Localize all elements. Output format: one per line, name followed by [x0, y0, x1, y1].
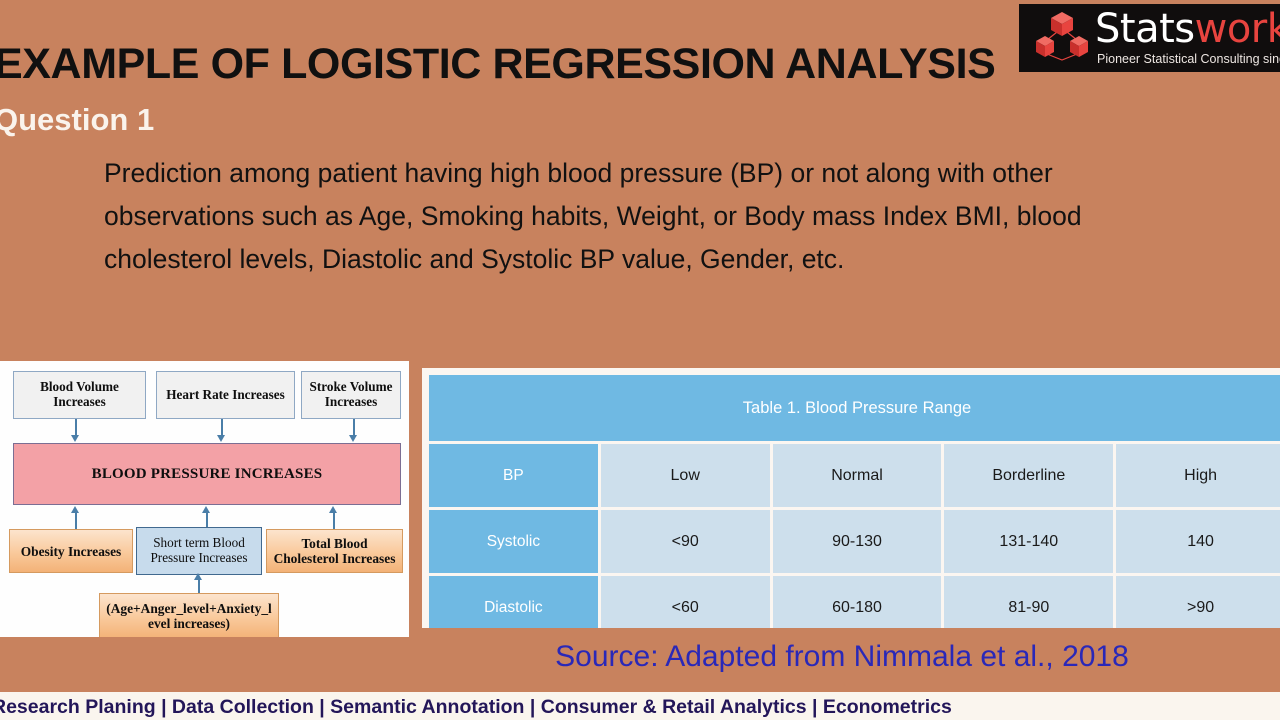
table-cell-systolic-low: <90	[601, 510, 770, 573]
table-cell-diastolic-borderline: 81-90	[944, 576, 1113, 628]
footer-bar: Research Planing | Data Collection | Sem…	[0, 692, 1280, 720]
table-row-label-systolic: Systolic	[429, 510, 598, 573]
diagram-box-total-cholesterol: Total Blood Cholesterol Increases	[266, 529, 403, 573]
table-cell-diastolic-low: <60	[601, 576, 770, 628]
table-col-header-bp: BP	[429, 444, 598, 507]
diagram-box-blood-volume: Blood Volume Increases	[13, 371, 146, 419]
table-col-header-low: Low	[601, 444, 770, 507]
arrow-head-up-2	[202, 506, 210, 513]
diagram-box-blood-pressure-increases: BLOOD PRESSURE INCREASES	[13, 443, 401, 505]
table-header-row: BP Low Normal Borderline High	[429, 444, 1280, 507]
blood-pressure-flow-diagram: Blood Volume Increases Heart Rate Increa…	[0, 358, 412, 640]
logo-word-work: work	[1195, 6, 1280, 52]
table: Table 1. Blood Pressure Range BP Low Nor…	[426, 372, 1280, 628]
footer-services-text: Research Planing | Data Collection | Sem…	[0, 696, 952, 719]
source-caption: Source: Adapted from Nimmala et al., 201…	[422, 640, 1262, 674]
logo-wordmark: Statswork	[1095, 6, 1280, 52]
page-title: EXAMPLE OF LOGISTIC REGRESSION ANALYSIS	[0, 40, 1054, 89]
arrow-head-up-4	[194, 573, 202, 580]
diagram-box-heart-rate: Heart Rate Increases	[156, 371, 295, 419]
table-cell-diastolic-high: >90	[1116, 576, 1280, 628]
diagram-box-age-anger-anxiety: (Age+Anger_level+Anxiety_l evel increase…	[99, 593, 279, 639]
arrow-head-down-2	[217, 435, 225, 442]
blood-pressure-range-table: Table 1. Blood Pressure Range BP Low Nor…	[422, 368, 1280, 628]
arrow-head-up-1	[71, 506, 79, 513]
logo-word-stats: Stats	[1095, 6, 1195, 52]
statswork-logo: Statswork Pioneer Statistical Consulting…	[1019, 4, 1280, 72]
question-heading: Question 1	[0, 102, 154, 138]
table-title: Table 1. Blood Pressure Range	[429, 375, 1280, 441]
arrow-line-up-3	[333, 513, 335, 529]
table-cell-systolic-normal: 90-130	[773, 510, 942, 573]
table-row: Systolic <90 90-130 131-140 140	[429, 510, 1280, 573]
table-title-row: Table 1. Blood Pressure Range	[429, 375, 1280, 441]
table-cell-systolic-borderline: 131-140	[944, 510, 1113, 573]
body-paragraph: Prediction among patient having high blo…	[104, 152, 1124, 281]
table-col-header-normal: Normal	[773, 444, 942, 507]
diagram-box-stroke-volume: Stroke Volume Increases	[301, 371, 401, 419]
table-col-header-borderline: Borderline	[944, 444, 1113, 507]
table-cell-diastolic-normal: 60-180	[773, 576, 942, 628]
table-cell-systolic-high: 140	[1116, 510, 1280, 573]
logo-tagline: Pioneer Statistical Consulting since 200…	[1097, 52, 1280, 66]
diagram-box-obesity: Obesity Increases	[9, 529, 133, 573]
table-col-header-high: High	[1116, 444, 1280, 507]
arrow-head-down-3	[349, 435, 357, 442]
table-row-label-diastolic: Diastolic	[429, 576, 598, 628]
arrow-line-up-1	[75, 513, 77, 529]
arrow-head-down-1	[71, 435, 79, 442]
arrow-head-up-3	[329, 506, 337, 513]
diagram-box-short-term-bp: Short term Blood Pressure Increases	[136, 527, 262, 575]
table-row: Diastolic <60 60-180 81-90 >90	[429, 576, 1280, 628]
slide-canvas: Statswork Pioneer Statistical Consulting…	[0, 0, 1280, 720]
